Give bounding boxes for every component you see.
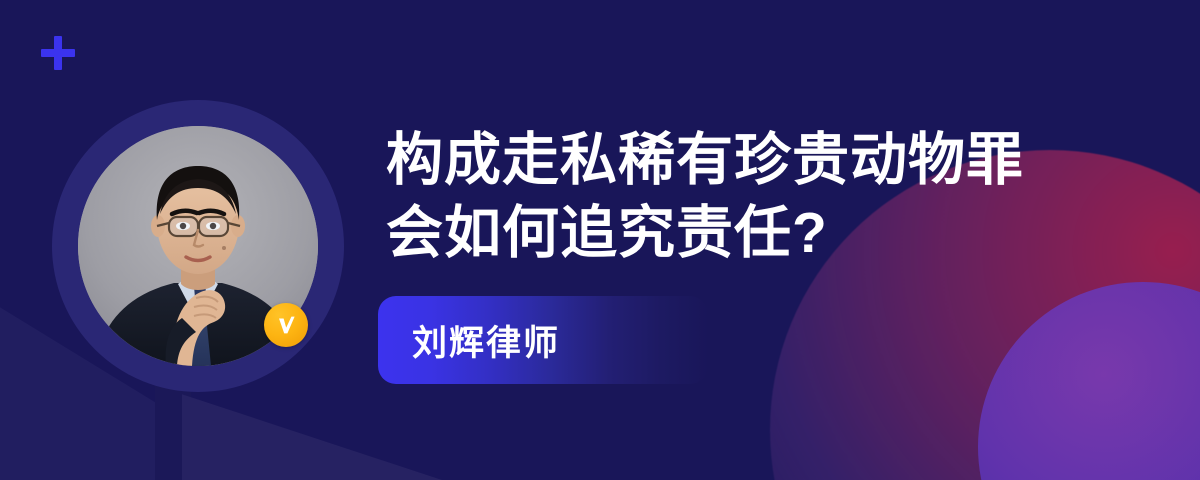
- title-line-2: 会如何追究责任?: [386, 197, 1086, 270]
- page-title: 构成走私稀有珍贵动物罪 会如何追究责任?: [386, 124, 1086, 270]
- title-line-1: 构成走私稀有珍贵动物罪: [386, 124, 1086, 197]
- lawyer-name-label: 刘辉律师: [412, 315, 560, 366]
- avatar[interactable]: [52, 100, 344, 392]
- lawyer-name-badge[interactable]: 刘辉律师: [378, 296, 708, 384]
- promo-banner: 构成走私稀有珍贵动物罪 会如何追究责任? 刘辉律师: [0, 0, 1200, 480]
- plus-icon: [41, 36, 75, 70]
- verified-badge: [264, 303, 308, 347]
- plus-icon-bar-vertical: [54, 36, 62, 70]
- purple-circle-blob: [978, 282, 1200, 480]
- verified-check-icon: [273, 312, 299, 338]
